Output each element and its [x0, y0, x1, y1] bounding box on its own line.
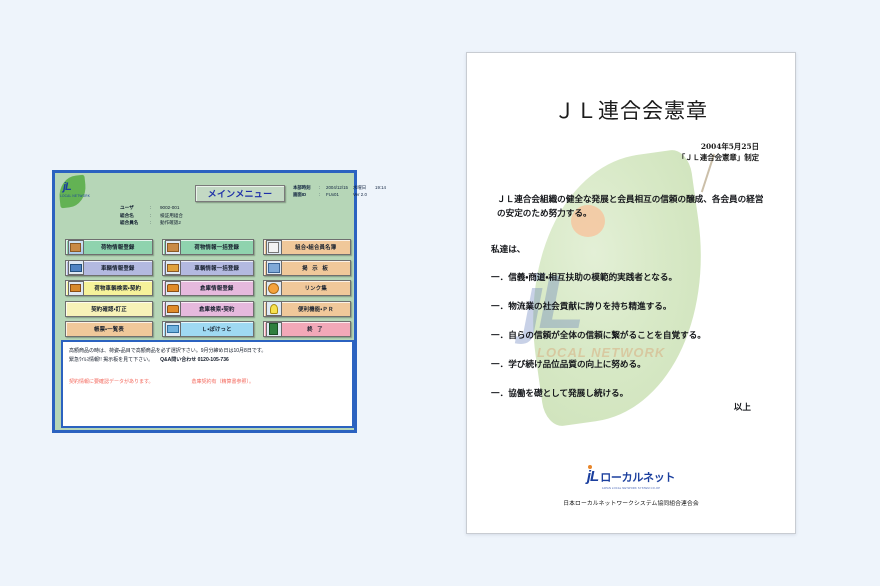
document-enactment: 「ＪＬ連合会憲章」制定 [678, 152, 759, 163]
header-meta-row: 本部時刻 : 2004/12/15 水曜日 19:14 [293, 184, 386, 191]
menu-button-label: 便利機能・ＰＲ [282, 305, 351, 313]
document-footer: jL ローカルネット JAPAN LOCAL NETWORK SYSTEM CO… [467, 468, 795, 507]
user-info-colon: : [150, 219, 160, 227]
header-meta-value-time: 19:14 [375, 184, 386, 191]
menu-button-cargo-batch-register[interactable]: 荷物情報一括登録 [162, 239, 254, 255]
parcels-icon [165, 240, 181, 255]
charter-document-body: jL LOCAL NETWORK ＪＬ連合会憲章 2004年5月25日 「ＪＬ連… [467, 53, 795, 533]
search-icon [68, 281, 84, 296]
header-meta: 本部時刻 : 2004/12/15 水曜日 19:14 画面ID : FUx01… [293, 184, 386, 198]
menu-button-label: 帳票・一覧表 [66, 325, 152, 333]
menu-button-contract-confirm[interactable]: 契約確認・訂正 [65, 301, 153, 317]
menu-button-label: 車輌情報登録 [84, 264, 153, 272]
menu-button-label: 掲 示 板 [282, 264, 351, 272]
menu-button-warehouse-register[interactable]: 倉庫情報登録 [162, 280, 254, 296]
board-icon [266, 260, 282, 275]
document-title: ＪＬ連合会憲章 [467, 95, 795, 125]
header-meta-value-version: Ver 2.0 [353, 191, 375, 198]
logo-mark-text: jL [63, 181, 71, 193]
exit-door-icon [266, 322, 282, 337]
footer-logo-name: ローカルネット [600, 469, 675, 485]
menu-button-label: 荷物情報登録 [84, 243, 153, 251]
document-lead-paragraph: ＪＬ連合会組織の健全な発展と会員相互の信頼の醸成、各会員の経営の安定のため努力す… [497, 193, 769, 221]
main-menu-window: jL LOCAL NETWORK メインメニュー 本部時刻 : 2004/12/… [52, 170, 357, 433]
user-info-block: ユーザ : 9002-001 組合名 : 検証用組合 組合員名 : 動作確認2 [120, 204, 183, 227]
menu-button-utilities-pr[interactable]: 便利機能・ＰＲ [263, 301, 351, 317]
menu-button-label: 荷物情報一括登録 [181, 243, 254, 251]
leaf-shape-icon [57, 175, 87, 209]
notice-panel: 高額商品の時は、荷姿・品目で高額商品を必ず選択下さい。9月分締め日は10月8日で… [61, 340, 354, 428]
menu-button-vehicle-batch-register[interactable]: 車輌情報一括登録 [162, 260, 254, 276]
header-meta-label: 本部時刻 [293, 184, 319, 191]
jl-leaf-logo: jL LOCAL NETWORK [57, 175, 89, 209]
menu-column-1: 荷物情報登録 車輌情報登録 荷物車輌検索・契約 契約確認・訂正 [65, 239, 153, 337]
user-info-row-userid: ユーザ : 9002-001 [120, 204, 183, 212]
user-info-label: 組合員名 [120, 219, 150, 227]
header-meta-sep: : [319, 191, 326, 198]
footer-logo-row: jL ローカルネット [587, 468, 675, 485]
footer-logo-tiny-text: JAPAN LOCAL NETWORK SYSTEM CO-OP [587, 487, 675, 490]
menu-button-warehouse-search[interactable]: 倉庫検索・契約 [162, 301, 254, 317]
trucks-icon [165, 260, 181, 275]
footer-logo: jL ローカルネット JAPAN LOCAL NETWORK SYSTEM CO… [587, 468, 675, 490]
page-title: メインメニュー [195, 185, 285, 202]
header-meta-sep: : [319, 184, 326, 191]
notice-qa-contact: Q&A問い合わせ 0120-105-736 [160, 357, 229, 363]
menu-button-label: リンク集 [282, 284, 351, 292]
menu-button-l-pocket[interactable]: Ｌ・ぽけっと [162, 321, 254, 337]
principle-item: 一．自らの信頼が全体の信頼に繋がることを自覚する。 [491, 329, 781, 343]
menu-button-label: 荷物車輌検索・契約 [84, 284, 153, 292]
alert-contract-data: 契約情報に要確認データがあります。 [69, 378, 154, 385]
menu-button-links[interactable]: リンク集 [263, 280, 351, 296]
user-info-colon: : [150, 212, 160, 220]
header-meta-row: 画面ID : FUx01 Ver 2.0 [293, 191, 386, 198]
header-meta-value-date: 2004/12/15 [326, 184, 353, 191]
menu-button-cargo-register[interactable]: 荷物情報登録 [65, 239, 153, 255]
logo-dot-icon [588, 465, 592, 469]
principle-item: 一．協働を礎として発展し続ける。 [491, 387, 781, 401]
footer-logo-mark: jL [587, 468, 598, 485]
warehouse-icon [165, 281, 181, 296]
link-icon [266, 281, 282, 296]
document-date-block: 2004年5月25日 「ＪＬ連合会憲章」制定 [678, 141, 759, 163]
parcel-icon [68, 240, 84, 255]
document-principles-list: 一．信義・商道・相互扶助の模範的実践者となる。 一．物流業の社会貢献に誇りを持ち… [491, 271, 781, 416]
user-info-row-union: 組合名 : 検証用組合 [120, 212, 183, 220]
alert-warehouse-contract: 倉庫契約有（精算書参照）。 [192, 378, 255, 385]
main-menu-canvas: jL LOCAL NETWORK メインメニュー 本部時刻 : 2004/12/… [55, 173, 354, 430]
principle-item: 一．学び続け品位品質の向上に努める。 [491, 358, 781, 372]
menu-button-member-directory[interactable]: 組合・組合員名簿 [263, 239, 351, 255]
notice-line-1: 高額商品の時は、荷姿・品目で高額商品を必ず選択下さい。9月分締め日は10月8日で… [69, 347, 346, 356]
document-date: 2004年5月25日 [678, 141, 759, 152]
book-icon [266, 240, 282, 255]
user-info-value: 動作確認2 [160, 219, 181, 227]
document-closing: 以上 [734, 401, 751, 413]
principle-item: 一．信義・商道・相互扶助の模範的実践者となる。 [491, 271, 781, 285]
menu-button-label: 車輌情報一括登録 [181, 264, 254, 272]
logo-tagline-text: LOCAL NETWORK [60, 194, 90, 198]
menu-button-cargo-vehicle-search[interactable]: 荷物車輌検索・契約 [65, 280, 153, 296]
user-info-label: ユーザ [120, 204, 150, 212]
menu-button-bulletin-board[interactable]: 掲 示 板 [263, 260, 351, 276]
warehouse-search-icon [165, 301, 181, 316]
user-info-colon: : [150, 204, 160, 212]
principle-item: 一．物流業の社会貢献に誇りを持ち精進する。 [491, 300, 781, 314]
pocket-icon [165, 322, 181, 337]
menu-column-3: 組合・組合員名簿 掲 示 板 リンク集 便利機能・ＰＲ [263, 239, 351, 337]
footer-logo-mark-text: jL [587, 468, 598, 485]
menu-button-reports[interactable]: 帳票・一覧表 [65, 321, 153, 337]
user-info-row-member: 組合員名 : 動作確認2 [120, 219, 183, 227]
notice-line-2: 緊急ｳｲﾙｽ情報!! 掲示板を見て下さい。 Q&A問い合わせ 0120-105-… [69, 356, 346, 365]
user-info-label: 組合名 [120, 212, 150, 220]
header-meta-label: 画面ID [293, 191, 319, 198]
menu-button-label: 終 了 [282, 325, 351, 333]
menu-button-label: 組合・組合員名簿 [282, 243, 351, 251]
document-we-are: 私達は、 [491, 243, 525, 255]
menu-button-grid: 荷物情報登録 車輌情報登録 荷物車輌検索・契約 契約確認・訂正 [65, 239, 351, 337]
bulb-icon [266, 301, 282, 316]
header-meta-value-screen-id: FUx01 [326, 191, 353, 198]
menu-button-label: 倉庫検索・契約 [181, 305, 254, 313]
notice-alerts: 契約情報に要確認データがあります。 倉庫契約有（精算書参照）。 [69, 378, 346, 385]
menu-button-vehicle-register[interactable]: 車輌情報登録 [65, 260, 153, 276]
screenshot-page: jL LOCAL NETWORK メインメニュー 本部時刻 : 2004/12/… [0, 0, 880, 586]
user-info-value: 9002-001 [160, 204, 179, 212]
charter-document: jL LOCAL NETWORK ＪＬ連合会憲章 2004年5月25日 「ＪＬ連… [466, 52, 796, 534]
header-meta-value-weekday: 水曜日 [353, 184, 375, 191]
footer-corporation-name: 日本ローカルネットワークシステム協同組合連合会 [467, 498, 795, 507]
notice-virus-alert: 緊急ｳｲﾙｽ情報!! 掲示板を見て下さい。 [69, 357, 153, 363]
truck-icon [68, 260, 84, 275]
menu-button-label: 倉庫情報登録 [181, 284, 254, 292]
menu-button-exit[interactable]: 終 了 [263, 321, 351, 337]
user-info-value: 検証用組合 [160, 212, 183, 220]
menu-button-label: Ｌ・ぽけっと [181, 325, 254, 333]
menu-button-label: 契約確認・訂正 [66, 305, 152, 313]
menu-column-2: 荷物情報一括登録 車輌情報一括登録 倉庫情報登録 倉庫検索・契約 [162, 239, 254, 337]
